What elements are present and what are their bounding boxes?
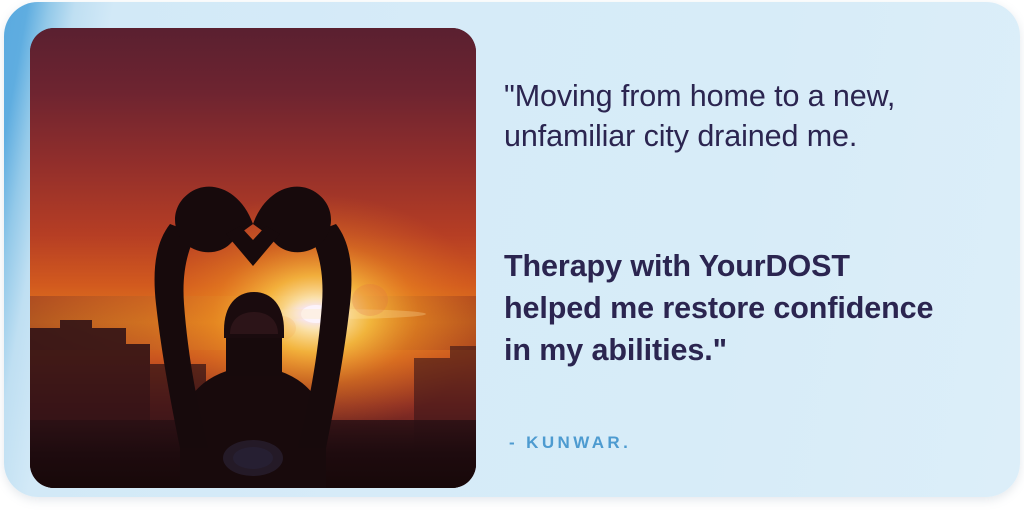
- quote-attribution: - KUNWAR.: [509, 433, 631, 453]
- testimonial-photo: [30, 28, 476, 488]
- testimonial-card: "Moving from home to a new, unfamiliar c…: [4, 2, 1020, 497]
- quote-intro-text: "Moving from home to a new, unfamiliar c…: [504, 76, 969, 156]
- quote-highlight-text: Therapy with YourDOST helped me restore …: [504, 245, 944, 371]
- quote-column: "Moving from home to a new, unfamiliar c…: [504, 2, 974, 497]
- sunset-heart-hands-silhouette: [30, 28, 476, 488]
